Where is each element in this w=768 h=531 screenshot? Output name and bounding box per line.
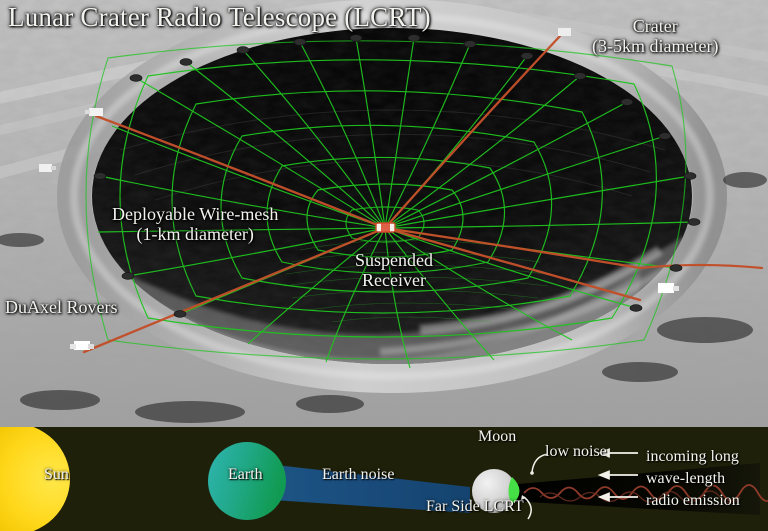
- lcrt-figure: Lunar Crater Radio Telescope (LCRT) Crat…: [0, 0, 768, 531]
- suspended-receiver: [376, 223, 395, 232]
- rover-marker: [558, 28, 571, 36]
- earth-icon: [208, 442, 286, 520]
- noise-schematic-panel: [0, 427, 768, 531]
- lunar-crater-scene: Lunar Crater Radio Telescope (LCRT) Crat…: [0, 0, 768, 427]
- crater-illustration: [0, 0, 768, 427]
- sun-earth-moon-diagram: [0, 427, 768, 531]
